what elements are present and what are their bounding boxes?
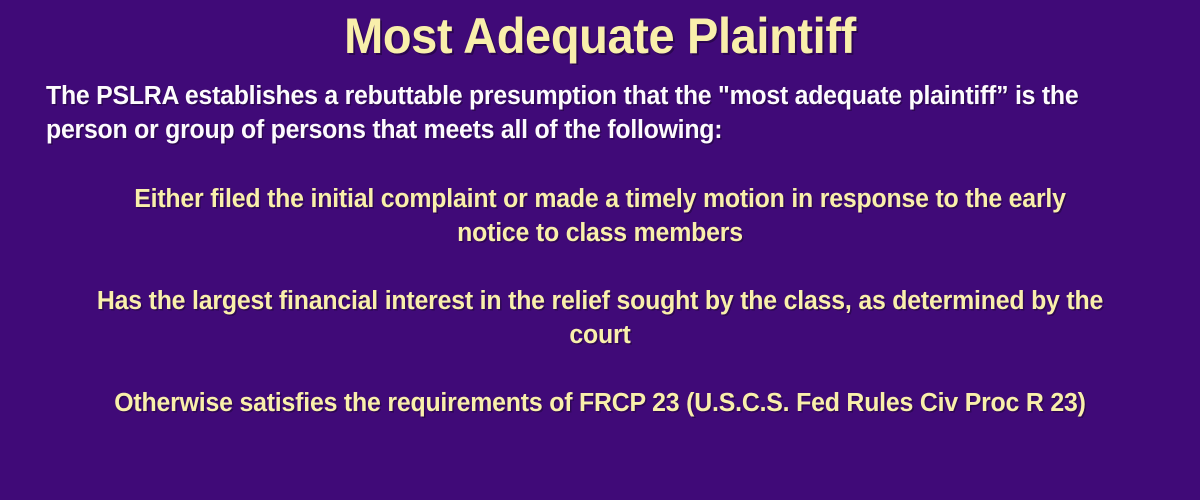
criteria-item-1: Either filed the initial complaint or ma… — [60, 148, 1140, 250]
criteria-list: Either filed the initial complaint or ma… — [46, 148, 1154, 421]
slide-title: Most Adequate Plaintiff — [79, 0, 1121, 64]
intro-paragraph: The PSLRA establishes a rebuttable presu… — [46, 64, 1126, 148]
criteria-item-2: Has the largest financial interest in th… — [60, 250, 1140, 352]
slide-container: Most Adequate Plaintiff The PSLRA establ… — [0, 0, 1200, 500]
criteria-item-3: Otherwise satisfies the requirements of … — [60, 352, 1140, 420]
